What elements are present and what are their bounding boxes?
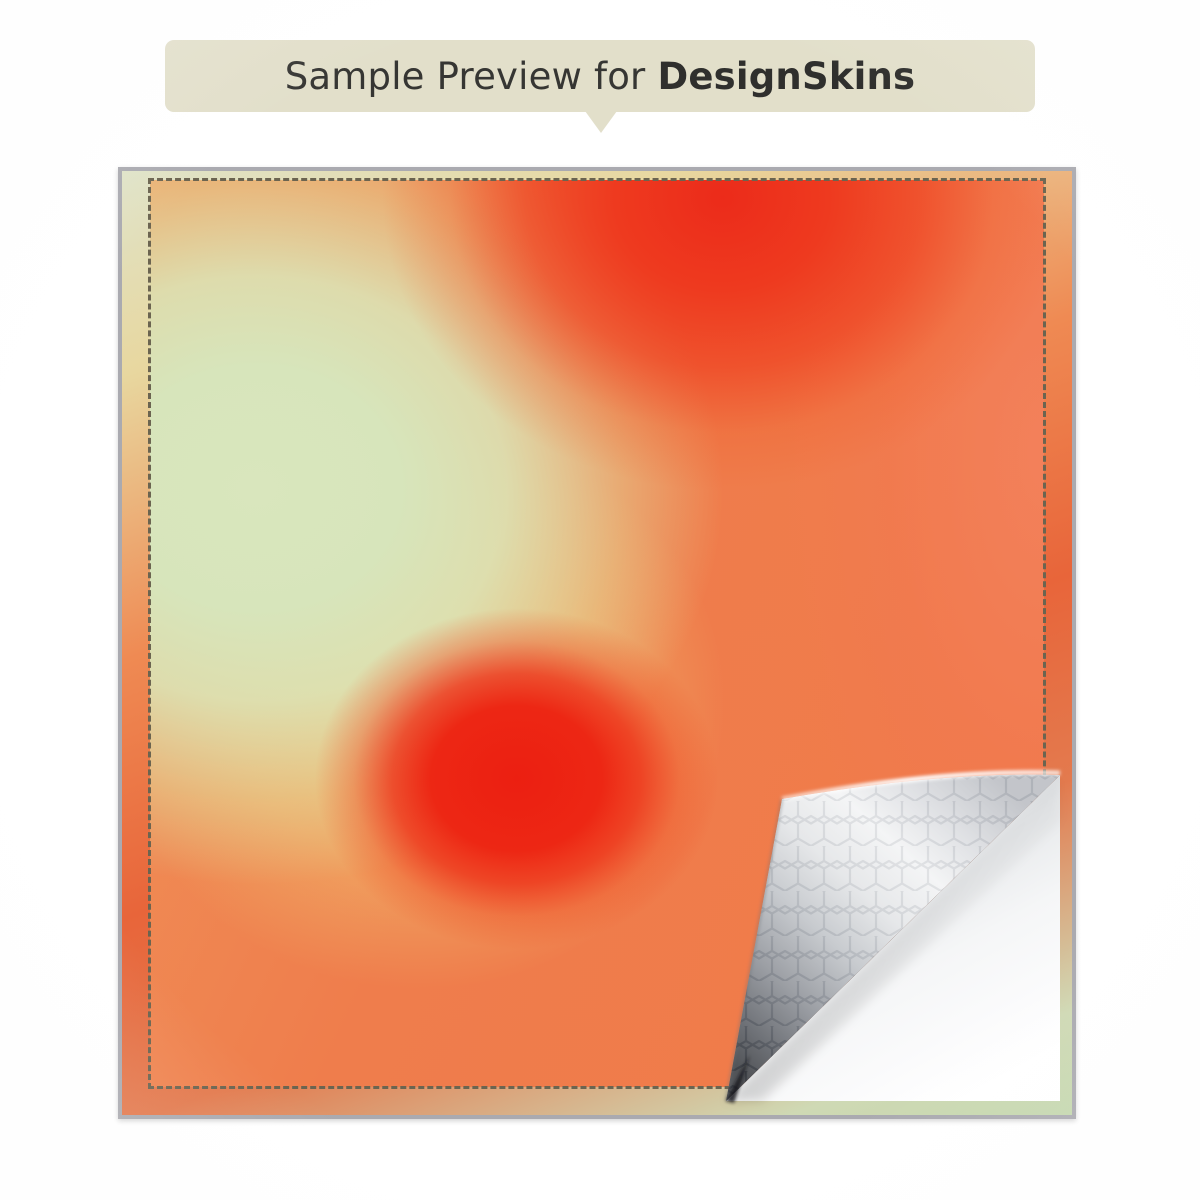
preview-banner: Sample Preview for DesignSkins (165, 40, 1035, 112)
gradient-bottom-right-green-layer (150, 180, 1044, 1087)
artwork-canvas (150, 180, 1044, 1087)
banner-title-prefix: Sample Preview for (285, 55, 658, 98)
banner-tail-pointer (585, 111, 617, 133)
skin-preview-frame[interactable] (118, 167, 1076, 1119)
banner-title-brand: DesignSkins (657, 55, 915, 98)
banner-title: Sample Preview for DesignSkins (285, 55, 916, 98)
